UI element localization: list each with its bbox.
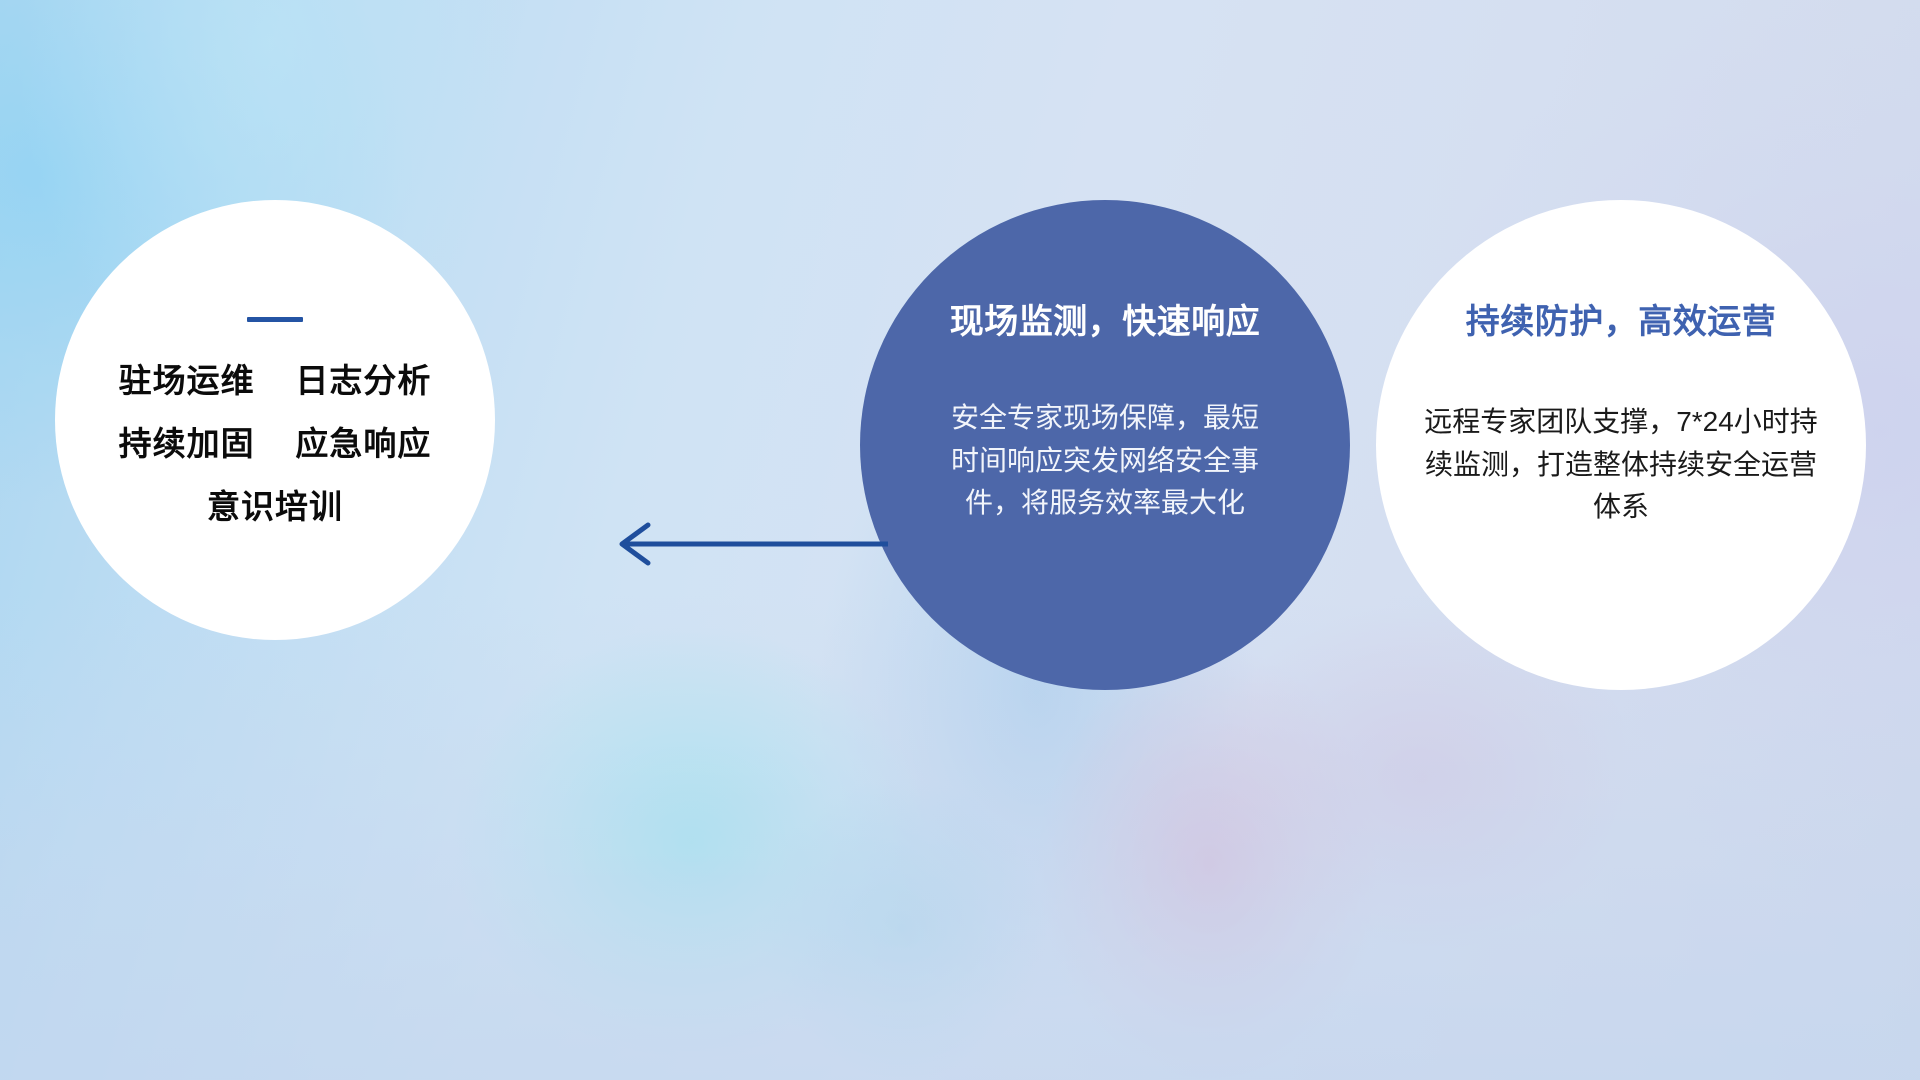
right-circle-body: 远程专家团队支撑，7*24小时持续监测，打造整体持续安全运营体系 — [1421, 401, 1821, 529]
left-circle-line-2: 持续加固 应急响应 — [119, 427, 432, 460]
connector-arrow — [600, 512, 890, 576]
middle-circle-content: 现场监测，快速响应 安全专家现场保障，最短时间响应突发网络安全事件，将服务效率最… — [860, 200, 1350, 690]
dash-accent-icon — [247, 317, 303, 322]
right-circle-content: 持续防护，高效运营 远程专家团队支撑，7*24小时持续监测，打造整体持续安全运营… — [1376, 200, 1866, 690]
middle-circle-title: 现场监测，快速响应 — [950, 304, 1261, 341]
right-circle-title: 持续防护，高效运营 — [1466, 304, 1777, 341]
slide-canvas: 驻场运维 日志分析 持续加固 应急响应 意识培训 现场监测，快速响应 安全专家现… — [0, 0, 1920, 1080]
left-circle-content: 驻场运维 日志分析 持续加固 应急响应 意识培训 — [55, 200, 495, 640]
arrow-icon — [600, 512, 890, 576]
left-circle-line-3: 意识培训 — [207, 490, 343, 523]
middle-circle-body: 安全专家现场保障，最短时间响应突发网络安全事件，将服务效率最大化 — [950, 397, 1260, 525]
left-circle-line-1: 驻场运维 日志分析 — [119, 364, 432, 397]
